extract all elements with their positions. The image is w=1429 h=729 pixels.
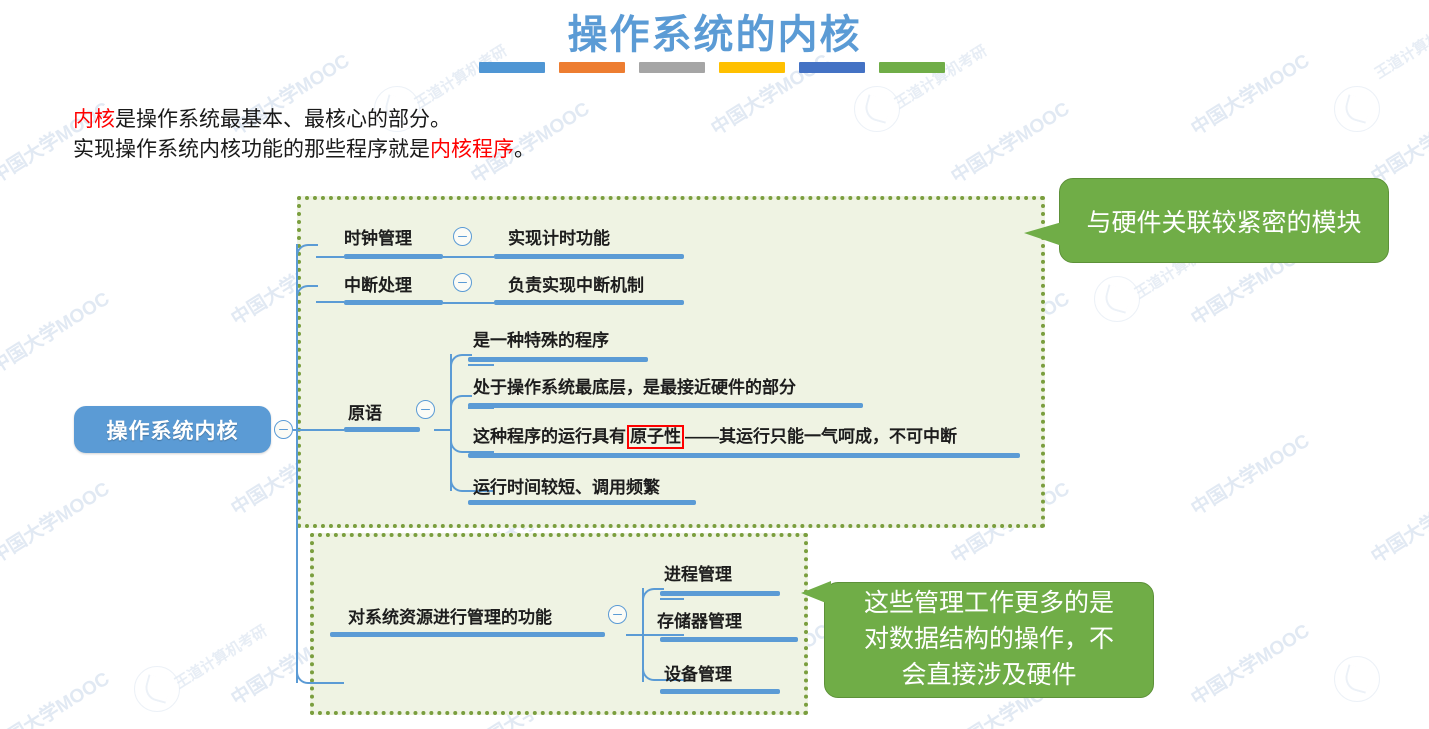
leaf-label-timing-function[interactable]: 实现计时功能 — [508, 228, 610, 250]
watermark-text: 中国大学MOOC — [1185, 46, 1314, 140]
page-title: 操作系统的内核 — [0, 2, 1429, 60]
callout-tail-icon — [1024, 222, 1062, 246]
minus-circle-icon-resource[interactable] — [608, 605, 627, 624]
callout-tail-icon — [801, 581, 831, 605]
leaf-label-lowest-layer[interactable]: 处于操作系统最底层，是最接近硬件的部分 — [473, 377, 796, 399]
intro-paragraph: 内核是操作系统最基本、最核心的部分。 实现操作系统内核功能的那些程序就是内核程序… — [73, 104, 535, 164]
leaf-label-interrupt-mechanism[interactable]: 负责实现中断机制 — [508, 275, 644, 297]
leaf-bar-atomicity — [468, 453, 1020, 458]
callout-data-structure[interactable]: 这些管理工作更多的是 对数据结构的操作，不 会直接涉及硬件 — [824, 582, 1154, 698]
watermark-text: 中国大学MOOC — [705, 46, 834, 140]
callout-hardware-related[interactable]: 与硬件关联较紧密的模块 — [1059, 178, 1389, 263]
leaf-label-special-program[interactable]: 是一种特殊的程序 — [473, 330, 609, 352]
watermark-text: 中国大学MOOC — [1365, 474, 1429, 568]
leaf-label-memory-management[interactable]: 存储器管理 — [657, 611, 742, 633]
callout-hardware-related-text: 与硬件关联较紧密的模块 — [1086, 203, 1361, 239]
leaf-bar-lowest-layer — [468, 403, 863, 408]
intro-highlight-kernel: 内核 — [73, 107, 115, 131]
mooc-logo-watermark — [1094, 276, 1140, 322]
intro-line-2-prefix: 实现操作系统内核功能的那些程序就是 — [73, 137, 430, 161]
leaf-bar-special-program — [468, 357, 648, 362]
rule-bar-2 — [559, 62, 625, 73]
atomicity-suffix: ——其运行只能一气呵成，不可中断 — [685, 427, 957, 446]
minus-circle-icon-clock[interactable] — [453, 227, 472, 246]
brand-watermark: 王道计算机考研 — [170, 620, 270, 693]
rule-bar-5 — [799, 62, 865, 73]
primitive-line-1 — [468, 364, 494, 366]
leaf-bar-timing-function — [494, 254, 684, 259]
branch-curve-interrupt — [296, 285, 318, 303]
mooc-logo-watermark — [1334, 86, 1380, 132]
minus-circle-icon-primitive[interactable] — [416, 400, 435, 419]
resource-curve-3 — [642, 661, 664, 681]
watermark-text: 中国大学MOOC — [0, 474, 114, 568]
branch-label-resource-management[interactable]: 对系统资源进行管理的功能 — [348, 607, 552, 629]
branch-curve-clock — [296, 244, 318, 258]
leaf-bar-process-management — [660, 591, 780, 596]
branch-bar-clock — [344, 254, 443, 259]
trunk-line-upper — [296, 244, 298, 430]
resource-line-1 — [660, 598, 684, 600]
intro-line-2: 实现操作系统内核功能的那些程序就是内核程序。 — [73, 134, 535, 164]
branch-label-interrupt-handling[interactable]: 中断处理 — [344, 275, 412, 297]
leaf-label-process-management[interactable]: 进程管理 — [664, 564, 732, 586]
watermark-text: 中国大学MOOC — [1185, 616, 1314, 710]
rule-bar-6 — [879, 62, 945, 73]
leaf-stem-clock — [443, 256, 494, 258]
slide-canvas: 中国大学MOOC 中国大学MOOC 中国大学MOOC 中国大学MOOC 中国大学… — [0, 0, 1429, 729]
title-rule-bars — [479, 62, 945, 73]
intro-line-1-rest: 是操作系统最基本、最核心的部分。 — [115, 107, 451, 131]
branch-bar-resource — [330, 632, 605, 637]
callout-data-structure-text: 这些管理工作更多的是 对数据结构的操作，不 会直接涉及硬件 — [864, 586, 1114, 694]
watermark-text: 中国大学MOOC — [0, 664, 114, 729]
resource-line-2 — [642, 634, 684, 636]
watermark-text: 中国大学MOOC — [1185, 426, 1314, 520]
watermark-text: 中国大学MOOC — [0, 284, 114, 378]
branch-label-clock-management[interactable]: 时钟管理 — [344, 228, 412, 250]
leaf-bar-memory-management — [660, 637, 798, 642]
watermark-text: 中国大学MOOC — [1365, 94, 1429, 188]
trunk-line-lower — [296, 429, 298, 683]
branch-label-primitive[interactable]: 原语 — [348, 403, 382, 425]
leaf-label-device-management[interactable]: 设备管理 — [664, 664, 732, 686]
branch-curve-resource — [296, 656, 322, 684]
intro-highlight-kernel-program: 内核程序 — [430, 137, 514, 161]
branch-line-primitive — [296, 429, 344, 431]
branch-line-clock — [316, 256, 344, 258]
watermark-text: 中国大学MOOC — [945, 94, 1074, 188]
root-node-label: 操作系统内核 — [107, 415, 239, 445]
root-node-os-kernel[interactable]: 操作系统内核 — [74, 406, 271, 453]
atomicity-boxed-term: 原子性 — [627, 425, 684, 449]
branch-line-interrupt — [316, 301, 344, 303]
leaf-bar-device-management — [660, 689, 780, 694]
branch-bar-interrupt — [344, 300, 443, 305]
minus-circle-icon-interrupt[interactable] — [453, 273, 472, 292]
leaf-stem-interrupt — [443, 302, 494, 304]
mooc-logo-watermark — [854, 86, 900, 132]
leaf-bar-interrupt-mechanism — [494, 300, 684, 305]
intro-line-1: 内核是操作系统最基本、最核心的部分。 — [73, 104, 535, 134]
rule-bar-4 — [719, 62, 785, 73]
rule-bar-1 — [479, 62, 545, 73]
atomicity-prefix: 这种程序的运行具有 — [473, 427, 626, 446]
mooc-logo-watermark — [1334, 656, 1380, 702]
leaf-label-atomicity[interactable]: 这种程序的运行具有原子性——其运行只能一气呵成，不可中断 — [473, 425, 957, 449]
leaf-label-short-runtime[interactable]: 运行时间较短、调用频繁 — [473, 477, 660, 499]
mooc-logo-watermark — [134, 666, 180, 712]
branch-bar-primitive — [344, 427, 420, 432]
intro-line-2-suffix: 。 — [514, 137, 535, 161]
minus-circle-icon-root[interactable] — [274, 420, 293, 439]
rule-bar-3 — [639, 62, 705, 73]
leaf-bar-short-runtime — [468, 500, 696, 505]
branch-line-resource — [318, 682, 344, 684]
